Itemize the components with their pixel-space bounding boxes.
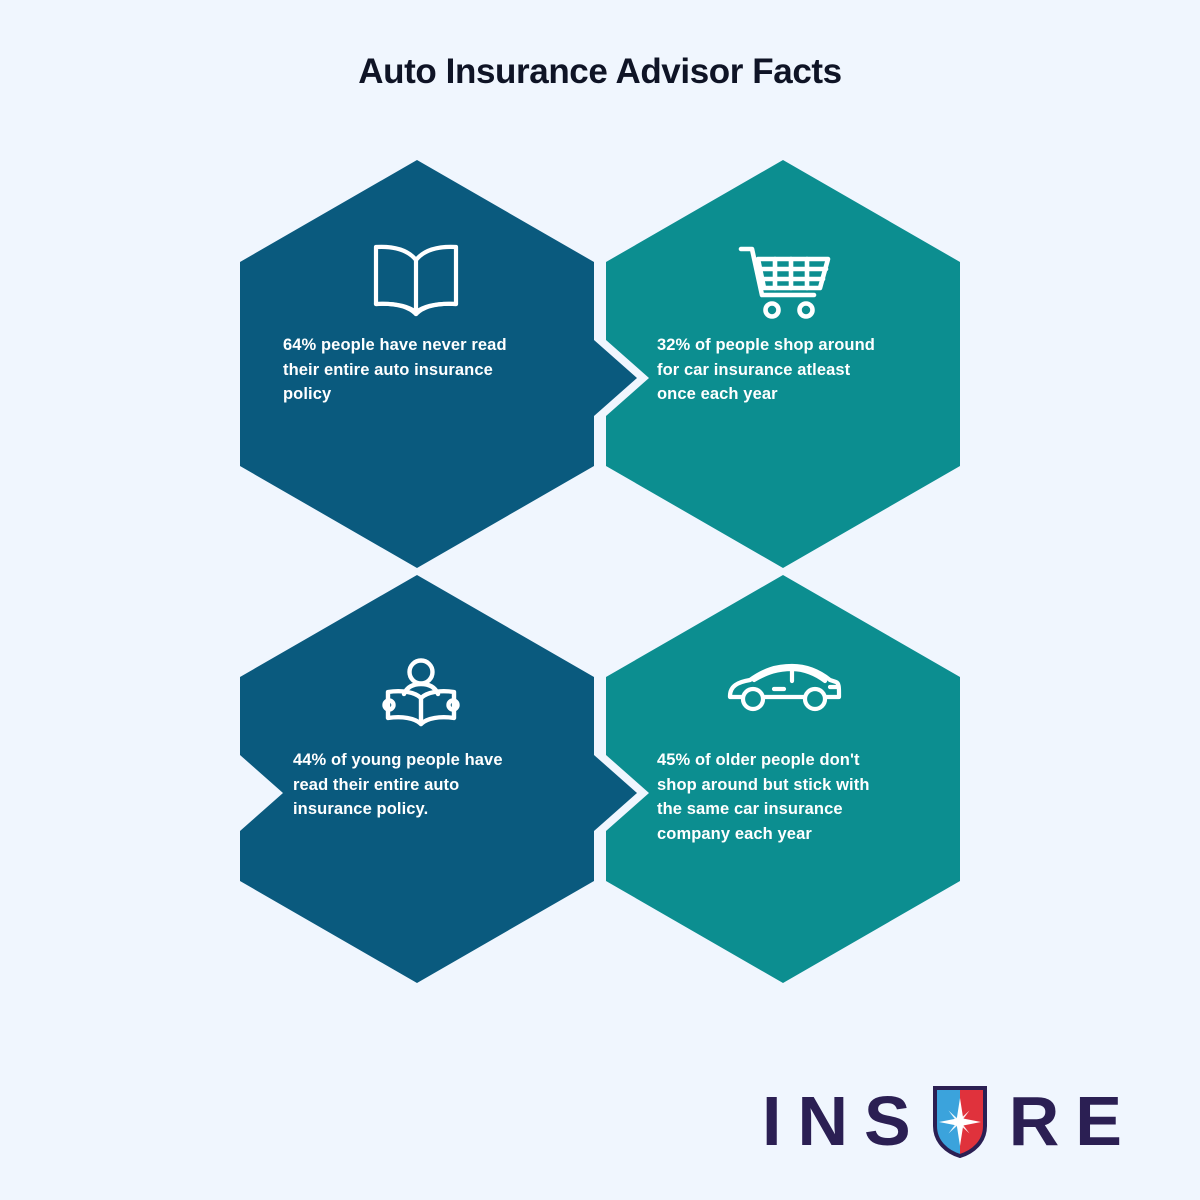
logo-letter-e: E — [1075, 1086, 1122, 1156]
hexagon-card-grid: 64% people have never read their entire … — [0, 0, 1200, 1020]
logo-letter-r: R — [1009, 1086, 1060, 1156]
logo-letter-s: S — [864, 1086, 911, 1156]
car-icon — [726, 662, 842, 719]
card-text-top-right: 32% of people shop around for car insura… — [657, 333, 919, 407]
card-text-bottom-right: 45% of older people don't shop around bu… — [657, 748, 919, 846]
person-reading-icon — [378, 658, 464, 735]
infographic-page: Auto Insurance Advisor Facts — [0, 0, 1200, 1200]
open-book-icon — [366, 242, 466, 323]
shopping-cart-icon — [738, 243, 832, 324]
shield-star-icon — [931, 1086, 989, 1163]
logo-letter-n: N — [797, 1086, 848, 1156]
card-text-top-left: 64% people have never read their entire … — [283, 333, 553, 407]
insure-logo[interactable]: I N S — [762, 1084, 1122, 1158]
card-text-bottom-left: 44% of young people have read their enti… — [293, 748, 559, 822]
logo-letter-i: I — [762, 1086, 781, 1156]
hexagon-shapes — [0, 0, 1200, 1020]
